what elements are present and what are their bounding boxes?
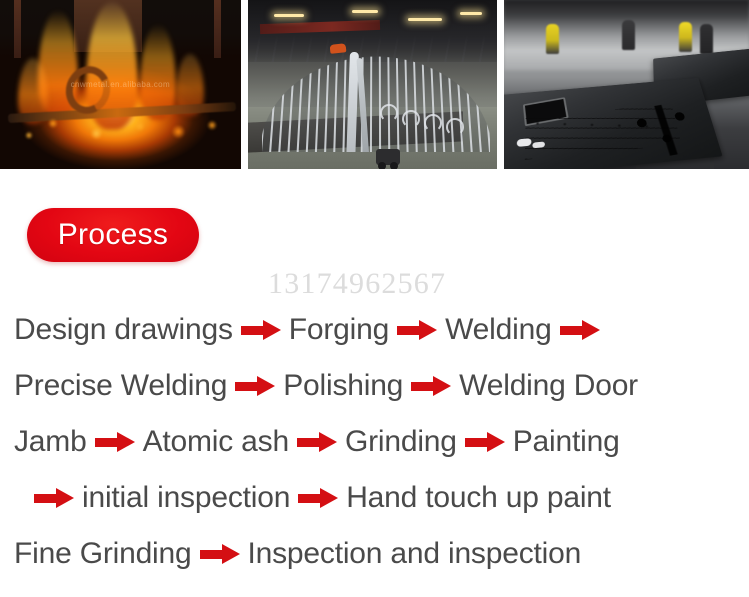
right-arrow-icon (235, 376, 275, 396)
process-flow-line: JambAtomic ashGrindingPainting (0, 414, 749, 470)
process-step-label: Hand touch up paint (346, 483, 611, 513)
right-arrow-icon (397, 320, 437, 340)
process-badge: Process (27, 208, 199, 262)
scroll-ornament (424, 114, 442, 132)
arrow-head (582, 320, 600, 340)
right-arrow-icon (465, 432, 505, 452)
process-section: Process 13174962567 Design drawingsForgi… (0, 169, 749, 597)
painted-door-panels-photo (504, 0, 749, 169)
right-arrow-icon (34, 488, 74, 508)
process-flow-line: Fine GrindingInspection and inspection (0, 526, 749, 582)
process-flow-line: Design drawingsForgingWelding (0, 302, 749, 358)
right-arrow-icon (298, 488, 338, 508)
scroll-ornament (402, 110, 420, 128)
arrow-head (487, 432, 505, 452)
scroll-ornament (380, 104, 398, 122)
process-step-label: Welding Door (459, 371, 638, 401)
door-panel (504, 78, 723, 169)
process-step-label: Welding (445, 315, 551, 345)
process-step-label: Atomic ash (143, 427, 289, 457)
arrow-head (117, 432, 135, 452)
process-step-label: Inspection and inspection (248, 539, 582, 569)
worker-figure (679, 22, 692, 52)
welded-steel-arch-photo (248, 0, 498, 169)
photo-strip: cnwmetal.en.alibaba.com (0, 0, 749, 169)
worker-figure (546, 24, 559, 54)
ceiling-light (408, 18, 442, 21)
arrow-head (419, 320, 437, 340)
process-step-label: Precise Welding (14, 371, 227, 401)
arrow-head (263, 320, 281, 340)
forging-furnace-photo: cnwmetal.en.alibaba.com (0, 0, 241, 169)
process-flow-line: initial inspectionHand touch up paint (0, 470, 749, 526)
ceiling-light (274, 14, 304, 17)
steel-arch-frame (262, 52, 490, 152)
photo-watermark: cnwmetal.en.alibaba.com (71, 80, 170, 89)
process-step-label: Painting (513, 427, 620, 457)
arch-ribs (262, 57, 490, 152)
process-step-label: initial inspection (82, 483, 290, 513)
forge-post (214, 0, 221, 58)
process-flow: Design drawingsForgingWeldingPrecise Wel… (0, 302, 749, 582)
arrow-head (222, 544, 240, 564)
workshop-scene (248, 0, 498, 169)
scroll-ornament (446, 118, 464, 136)
scroll-ornament (622, 100, 712, 163)
right-arrow-icon (200, 544, 240, 564)
process-flow-line: Precise WeldingPolishingWelding Door (0, 358, 749, 414)
worker-figure (329, 43, 346, 54)
right-arrow-icon (560, 320, 600, 340)
arrow-head (319, 432, 337, 452)
process-badge-label: Process (58, 218, 168, 252)
right-arrow-icon (411, 376, 451, 396)
forge-post (14, 0, 21, 58)
phone-watermark: 13174962567 (268, 267, 446, 301)
right-arrow-icon (241, 320, 281, 340)
arrow-head (56, 488, 74, 508)
process-step-label: Design drawings (14, 315, 233, 345)
ceiling-light (352, 10, 378, 13)
right-arrow-icon (297, 432, 337, 452)
process-step-label: Grinding (345, 427, 457, 457)
floor-cart (376, 149, 400, 165)
ceiling-light (460, 12, 482, 15)
glowing-embers (0, 105, 241, 151)
process-step-label: Jamb (14, 427, 87, 457)
process-step-label: Polishing (283, 371, 403, 401)
right-arrow-icon (95, 432, 135, 452)
worker-figure (700, 24, 713, 54)
arrow-head (320, 488, 338, 508)
process-step-label: Fine Grinding (14, 539, 192, 569)
arrow-head (257, 376, 275, 396)
door-assembly-scene (504, 0, 749, 169)
arrow-head (433, 376, 451, 396)
process-step-label: Forging (289, 315, 389, 345)
worker-figure (622, 20, 635, 50)
